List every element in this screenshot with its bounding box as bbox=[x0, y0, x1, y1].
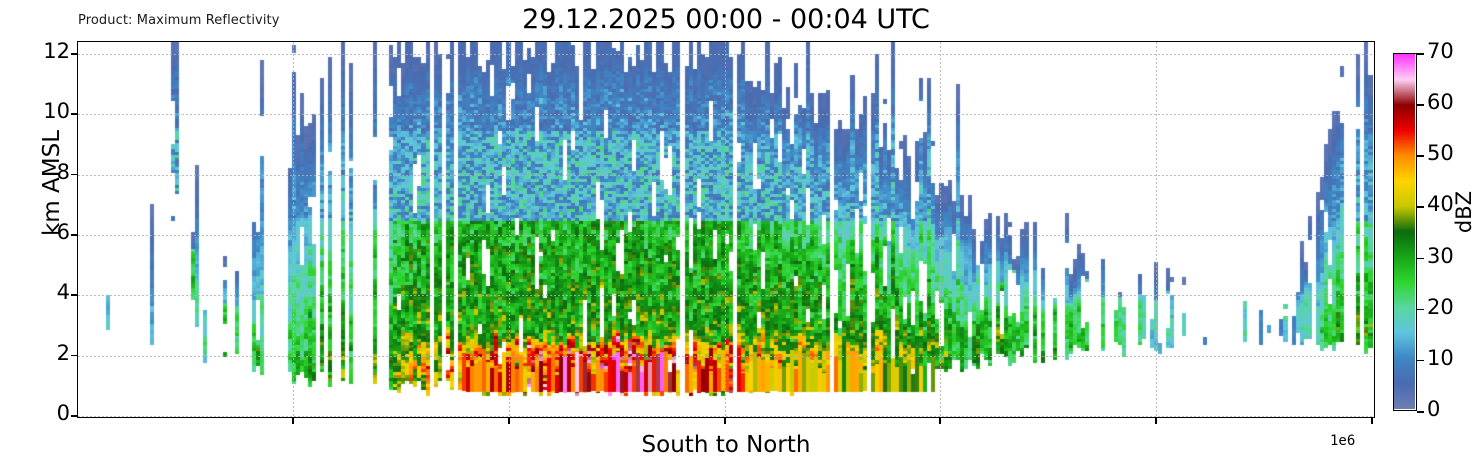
x-tick-mark bbox=[939, 418, 941, 424]
y-tick-mark bbox=[71, 174, 77, 176]
x-tick-mark bbox=[1155, 418, 1157, 424]
colorbar-tick-mark bbox=[1417, 258, 1424, 260]
colorbar-tick-mark bbox=[1417, 155, 1424, 157]
colorbar-tick-label: 50 bbox=[1427, 143, 1454, 164]
y-tick-mark bbox=[71, 355, 77, 357]
y-tick-mark bbox=[71, 113, 77, 115]
colorbar-tick-label: 30 bbox=[1427, 246, 1454, 267]
colorbar-tick-mark bbox=[1417, 360, 1424, 362]
y-tick-mark bbox=[71, 294, 77, 296]
y-tick-label: 4 bbox=[57, 282, 70, 303]
y-tick-label: 10 bbox=[43, 101, 70, 122]
radar-cross-section-figure: Product: Maximum Reflectivity 29.12.2025… bbox=[0, 0, 1482, 470]
colorbar-tick-mark bbox=[1417, 53, 1424, 55]
colorbar-tick-label: 60 bbox=[1427, 92, 1454, 113]
plot-area bbox=[77, 41, 1375, 418]
colorbar-tick-label: 0 bbox=[1427, 399, 1440, 420]
y-tick-label: 0 bbox=[57, 403, 70, 424]
y-tick-mark bbox=[71, 234, 77, 236]
y-tick-mark bbox=[71, 53, 77, 55]
x-tick-mark bbox=[508, 418, 510, 424]
colorbar-tick-mark bbox=[1417, 309, 1424, 311]
colorbar-tick-mark bbox=[1417, 411, 1424, 413]
y-tick-mark bbox=[71, 415, 77, 417]
y-tick-label: 6 bbox=[57, 222, 70, 243]
colorbar-gradient bbox=[1394, 54, 1415, 409]
y-tick-label: 8 bbox=[57, 162, 70, 183]
x-tick-mark bbox=[292, 418, 294, 424]
gridline-horizontal bbox=[78, 416, 1374, 417]
y-tick-label: 12 bbox=[43, 41, 70, 62]
colorbar-tick-label: 70 bbox=[1427, 41, 1454, 62]
x-axis-label: South to North bbox=[77, 432, 1375, 458]
colorbar bbox=[1393, 53, 1417, 411]
colorbar-label: dBZ bbox=[1452, 152, 1476, 272]
x-axis-offset-text: 1e6 bbox=[1330, 433, 1355, 449]
y-tick-label: 2 bbox=[57, 343, 70, 364]
reflectivity-heatmap bbox=[78, 42, 1373, 416]
page-title: 29.12.2025 00:00 - 00:04 UTC bbox=[77, 4, 1375, 35]
colorbar-tick-mark bbox=[1417, 104, 1424, 106]
colorbar-tick-label: 20 bbox=[1427, 297, 1454, 318]
colorbar-tick-mark bbox=[1417, 206, 1424, 208]
colorbar-tick-label: 40 bbox=[1427, 194, 1454, 215]
x-tick-mark bbox=[724, 418, 726, 424]
colorbar-tick-label: 10 bbox=[1427, 348, 1454, 369]
x-tick-mark bbox=[1371, 418, 1373, 424]
